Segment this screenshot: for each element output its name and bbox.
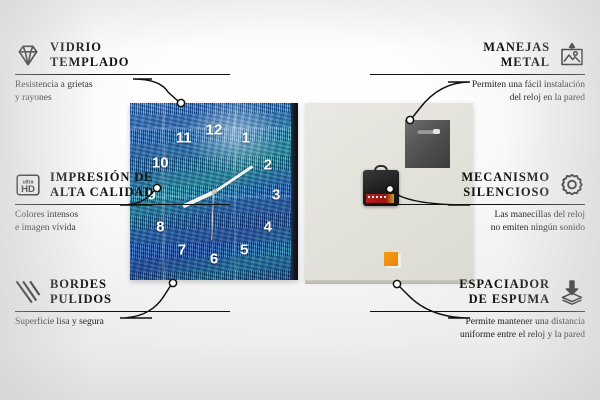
feature-title: BORDESPULIDOS xyxy=(50,277,112,307)
feature-divider xyxy=(15,311,230,312)
feature-header: VIDRIOTEMPLADO xyxy=(15,40,230,70)
feature-vidrio-templado[interactable]: VIDRIOTEMPLADO Resistencia a grietasy ra… xyxy=(15,40,230,105)
feature-title: MANEJASMETAL xyxy=(483,40,550,70)
feature-description: Colores intensose imagen vívida xyxy=(15,209,230,235)
clock-numeral-5: 5 xyxy=(240,242,248,257)
feature-divider xyxy=(370,204,585,205)
feature-header: ESPACIADORDE ESPUMA xyxy=(370,277,585,307)
feature-impresion-alta-calidad[interactable]: ultra HD IMPRESIÓN DEALTA CALIDAD Colore… xyxy=(15,170,230,235)
svg-text:HD: HD xyxy=(21,184,35,195)
feature-espaciador-espuma[interactable]: ESPACIADORDE ESPUMA Permite mantener una… xyxy=(370,277,585,342)
feature-divider xyxy=(370,74,585,75)
clock-numeral-6: 6 xyxy=(210,251,218,266)
polished-edges-icon xyxy=(15,279,41,305)
clock-numeral-12: 12 xyxy=(206,122,223,137)
ultra-hd-icon: ultra HD xyxy=(15,172,41,198)
feature-header: BORDESPULIDOS xyxy=(15,277,230,307)
wall-hanger-picture-icon xyxy=(559,42,585,68)
gear-icon xyxy=(559,172,585,198)
metal-hanger-plate xyxy=(405,120,450,168)
clock-numeral-11: 11 xyxy=(176,131,192,146)
clock-side-edge xyxy=(291,103,298,280)
feature-header: MECANISMOSILENCIOSO xyxy=(370,170,585,200)
clock-numeral-3: 3 xyxy=(272,188,280,203)
foam-spacer xyxy=(384,252,398,266)
feature-header: ultra HD IMPRESIÓN DEALTA CALIDAD xyxy=(15,170,230,200)
clock-numeral-7: 7 xyxy=(178,242,186,257)
feature-description: Permite mantener una distanciauniforme e… xyxy=(370,316,585,342)
feature-divider xyxy=(15,204,230,205)
feature-header: MANEJASMETAL xyxy=(370,40,585,70)
feature-description: Permiten una fácil instalacióndel reloj … xyxy=(370,79,585,105)
feature-mecanismo-silencioso[interactable]: MECANISMOSILENCIOSO Las manecillas del r… xyxy=(370,170,585,235)
clock-numeral-1: 1 xyxy=(242,131,250,146)
feature-title: MECANISMOSILENCIOSO xyxy=(461,170,550,200)
hanger-slot xyxy=(417,129,440,134)
infographic-canvas: 12 1 2 3 4 5 6 7 8 9 10 11 xyxy=(0,0,600,400)
clock-numeral-10: 10 xyxy=(152,156,169,171)
clock-numeral-4: 4 xyxy=(264,219,272,234)
feature-divider xyxy=(370,311,585,312)
feature-description: Resistencia a grietasy rayones xyxy=(15,79,230,105)
arrow-down-stack-icon xyxy=(559,279,585,305)
feature-manejas-metal[interactable]: MANEJASMETAL Permiten una fácil instalac… xyxy=(370,40,585,105)
feature-title: ESPACIADORDE ESPUMA xyxy=(459,277,550,307)
feature-description: Superficie lisa y segura xyxy=(15,316,230,329)
feature-title: IMPRESIÓN DEALTA CALIDAD xyxy=(50,170,154,200)
art-grid-line xyxy=(234,103,236,280)
diamond-icon xyxy=(15,42,41,68)
clock-numeral-2: 2 xyxy=(264,157,272,172)
feature-bordes-pulidos[interactable]: BORDESPULIDOS Superficie lisa y segura xyxy=(15,277,230,329)
feature-title: VIDRIOTEMPLADO xyxy=(50,40,129,70)
feature-divider xyxy=(15,74,230,75)
feature-description: Las manecillas del relojno emiten ningún… xyxy=(370,209,585,235)
